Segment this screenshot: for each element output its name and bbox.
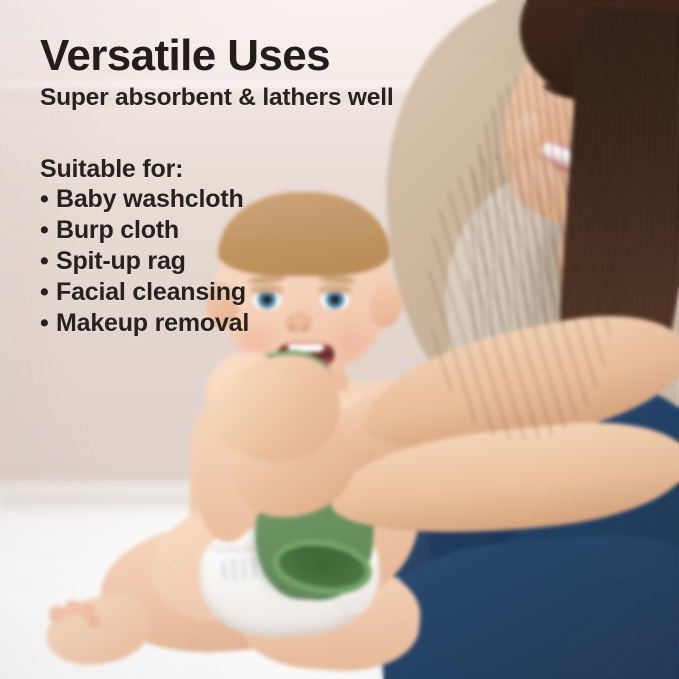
list-item: •Burp cloth bbox=[40, 215, 510, 246]
bullet-icon: • bbox=[40, 246, 56, 277]
list-item: •Baby washcloth bbox=[40, 184, 510, 215]
baby-toes bbox=[44, 596, 106, 657]
marketing-copy-block: Versatile Uses Super absorbent & lathers… bbox=[40, 34, 510, 339]
bullet-icon: • bbox=[40, 215, 56, 246]
list-item-label: Facial cleansing bbox=[56, 278, 246, 306]
list-item: •Spit-up rag bbox=[40, 246, 510, 277]
bullet-icon: • bbox=[40, 277, 56, 308]
list-item-label: Baby washcloth bbox=[56, 185, 244, 213]
bullet-icon: • bbox=[40, 184, 56, 215]
list-item-label: Burp cloth bbox=[56, 216, 179, 244]
list-item: •Makeup removal bbox=[40, 308, 510, 339]
suitable-for-label: Suitable for: bbox=[40, 155, 510, 184]
list-item: •Facial cleansing bbox=[40, 277, 510, 308]
list-item-label: Spit-up rag bbox=[56, 247, 186, 275]
uses-list: •Baby washcloth•Burp cloth•Spit-up rag•F… bbox=[40, 184, 510, 339]
product-lifestyle-image: Versatile Uses Super absorbent & lathers… bbox=[0, 0, 679, 679]
subtitle: Super absorbent & lathers well bbox=[40, 84, 510, 111]
page-title: Versatile Uses bbox=[40, 34, 510, 78]
bullet-icon: • bbox=[40, 308, 56, 339]
list-item-label: Makeup removal bbox=[56, 309, 249, 337]
